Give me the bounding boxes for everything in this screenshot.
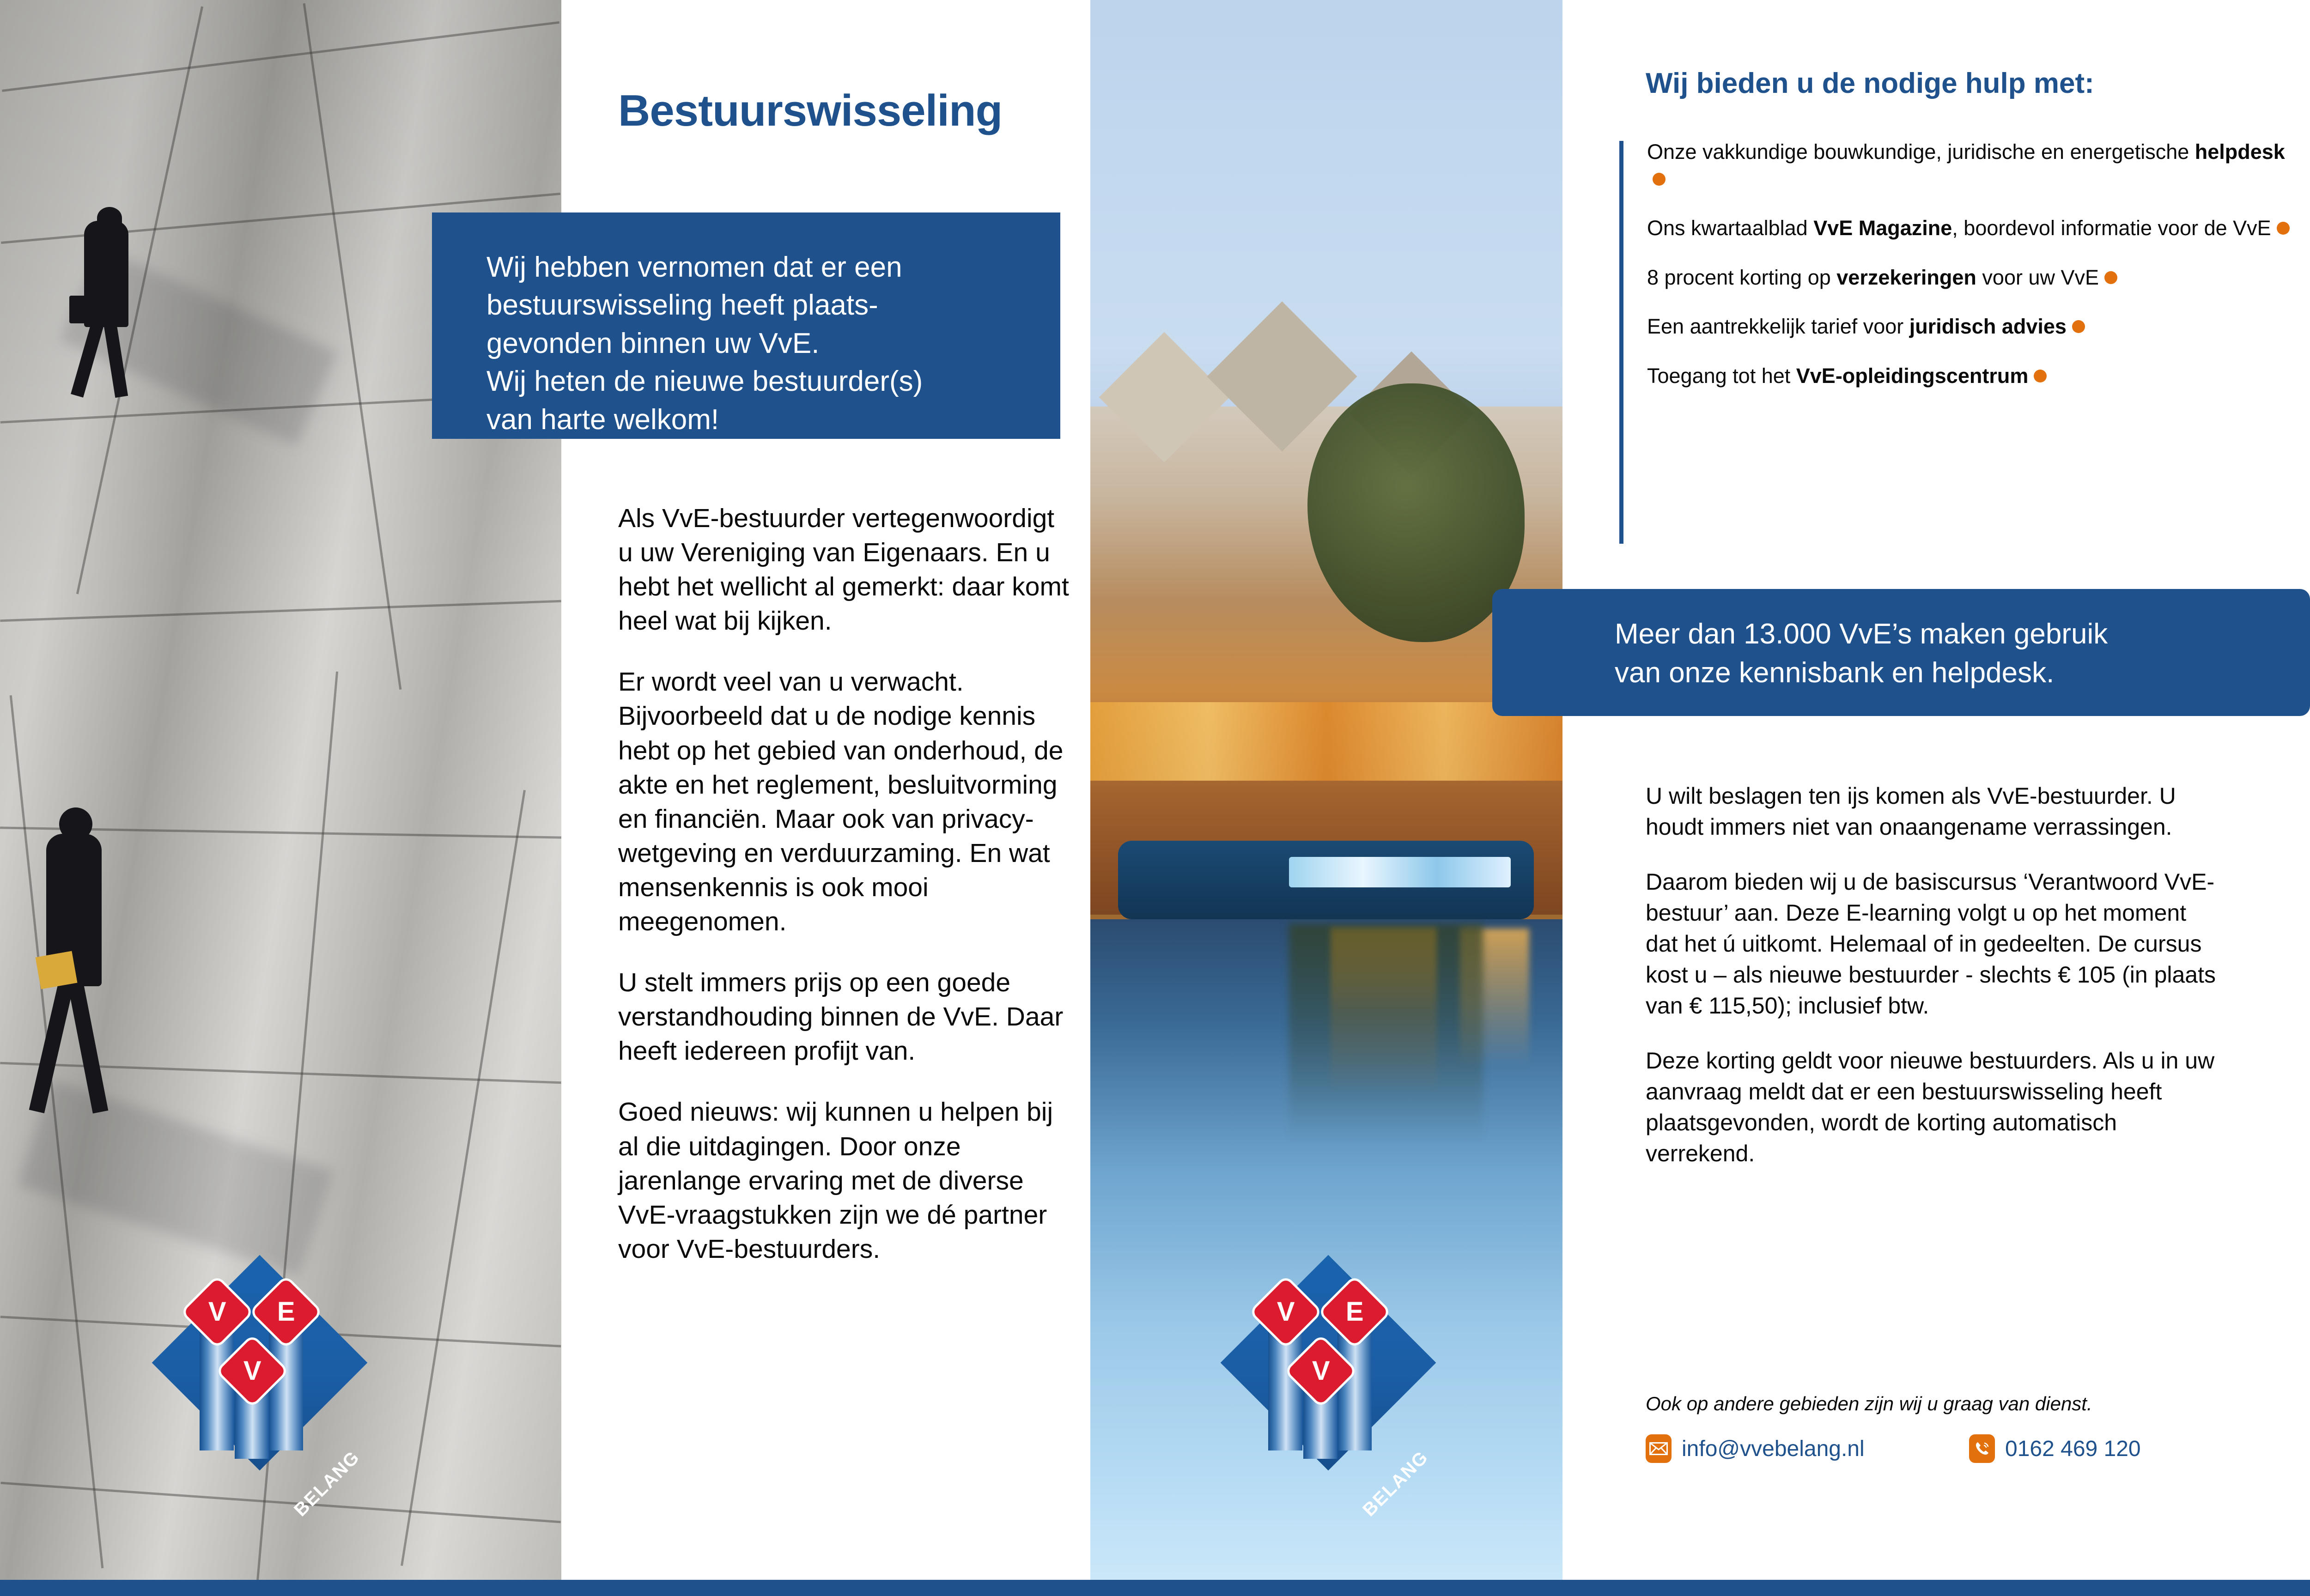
bullet-text-strong: VvE-opleidingscentrum (1796, 364, 2029, 388)
tagline: Ook op andere gebieden zijn wij u graag … (1646, 1393, 2246, 1415)
bullet-text-strong: verzekeringen (1836, 266, 1976, 289)
bullet-text-pre: Een aantrekkelijk tarief voor (1647, 315, 1909, 338)
right-paragraph: Deze korting geldt voor nieuwe bestuurde… (1646, 1045, 2219, 1169)
bullet-text-pre: 8 procent korting op (1647, 266, 1836, 289)
callout-welcome-line: bestuurswisseling heeft plaats- (486, 286, 1060, 324)
logo-cap-letter: V (1277, 1299, 1295, 1325)
bullet-text-pre: Toegang tot het (1647, 364, 1796, 388)
logo-cap-letter: V (243, 1358, 261, 1384)
orange-dot-icon (2034, 370, 2047, 382)
list-item: Een aantrekkelijk tarief voor juridisch … (1647, 313, 2303, 340)
figure-lower-head (59, 807, 92, 841)
orange-dot-icon (2277, 222, 2290, 235)
orange-dot-icon (2104, 271, 2117, 284)
contact-email[interactable]: info@vvebelang.nl (1646, 1434, 1969, 1463)
callout-statistic: Meer dan 13.000 VvE’s maken gebruik van … (1492, 589, 2310, 716)
bullet-text-pre: Onze vakkundige bouwkundige, juridische … (1647, 140, 2195, 164)
list-item: Onze vakkundige bouwkundige, juridische … (1647, 139, 2303, 193)
canal-boat-windows (1289, 857, 1511, 887)
right-text-column: Wij bieden u de nodige hulp met: Onze va… (1589, 0, 2310, 1580)
bullet-text-post: voor uw VvE (1976, 266, 2099, 289)
left-paragraph: Er wordt veel van u verwacht. Bijvoorbee… (618, 665, 1076, 939)
bullet-text-post: , boordevol informatie voor de VvE (1952, 216, 2271, 240)
bullet-text-strong: helpdesk (2195, 140, 2285, 164)
figure-lower-papers (36, 951, 78, 989)
left-paragraph: U stelt immers prijs op een goede versta… (618, 965, 1076, 1068)
left-paragraph: Als VvE-bestuurder vertegen­woordigt u u… (618, 501, 1076, 638)
benefits-rail (1619, 141, 1623, 544)
logo-cap-letter: V (208, 1299, 226, 1325)
callout-welcome: Wij hebben vernomen dat er een bestuursw… (432, 212, 1060, 439)
list-item: Toegang tot het VvE-opleidingscentrum (1647, 363, 2303, 390)
vve-belang-logo: V E V BELANG (1213, 1247, 1444, 1478)
right-paragraph: U wilt beslagen ten ijs komen als VvE-be… (1646, 781, 2219, 843)
right-body-text: U wilt beslagen ten ijs komen als VvE-be… (1646, 781, 2219, 1193)
right-heading: Wij bieden u de nodige hulp met: (1646, 67, 2246, 100)
logo-cap-letter: E (277, 1299, 295, 1325)
callout-welcome-line: van harte welkom! (486, 401, 1060, 439)
bullet-text-strong: juridisch advies (1909, 315, 2067, 338)
figure-upper-coat (84, 221, 128, 327)
left-body-text: Als VvE-bestuurder vertegen­woordigt u u… (618, 501, 1076, 1293)
phone-icon (1969, 1434, 1995, 1463)
list-item: Ons kwartaalblad VvE Magazine, boordevol… (1647, 215, 2303, 242)
canal-lit-window-band (1090, 702, 1562, 781)
orange-dot-icon (2072, 320, 2085, 333)
logo-cap-letter: E (1346, 1299, 1364, 1325)
canal-reflection-trees (1289, 924, 1483, 1141)
bullet-text-pre: Ons kwartaalblad (1647, 216, 1813, 240)
contact-bar: info@vvebelang.nl 0162 469 120 (1646, 1434, 2265, 1463)
right-paragraph: Daarom bieden wij u de basiscursus ‘Vera… (1646, 867, 2219, 1021)
bottom-blue-bar (0, 1580, 2310, 1596)
callout-welcome-line: gevonden binnen uw VvE. (486, 325, 1060, 363)
callout-welcome-line: Wij heten de nieuwe bestuurder(s) (486, 363, 1060, 401)
vve-belang-logo: V E V BELANG (144, 1247, 375, 1478)
brochure-page: Bestuurswisseling Wij hebben vernomen da… (0, 0, 2310, 1596)
logo-cap-letter: V (1312, 1358, 1330, 1384)
callout-welcome-line: Wij hebben vernomen dat er een (486, 249, 1060, 286)
orange-dot-icon (1653, 173, 1666, 186)
benefits-list: Onze vakkundige bouwkundige, juridische … (1619, 139, 2303, 412)
left-text-column: Bestuurswisseling Wij hebben vernomen da… (610, 0, 1081, 1580)
page-title: Bestuurswisseling (618, 85, 1080, 136)
phone-number[interactable]: 0162 469 120 (2005, 1436, 2141, 1462)
figure-upper-head (97, 207, 122, 229)
email-address[interactable]: info@vvebelang.nl (1682, 1436, 1865, 1462)
envelope-icon (1646, 1434, 1672, 1463)
bullet-text-strong: VvE Magazine (1813, 216, 1952, 240)
callout-statistic-line: Meer dan 13.000 VvE’s maken gebruik (1615, 615, 2310, 654)
list-item: 8 procent korting op verzekeringen voor … (1647, 264, 2303, 291)
left-paragraph: Goed nieuws: wij kunnen u helpen bij al … (618, 1095, 1076, 1266)
callout-statistic-line: van onze kennisbank en helpdesk. (1615, 654, 2310, 692)
contact-phone[interactable]: 0162 469 120 (1969, 1434, 2141, 1463)
figure-upper-bag (69, 296, 91, 323)
